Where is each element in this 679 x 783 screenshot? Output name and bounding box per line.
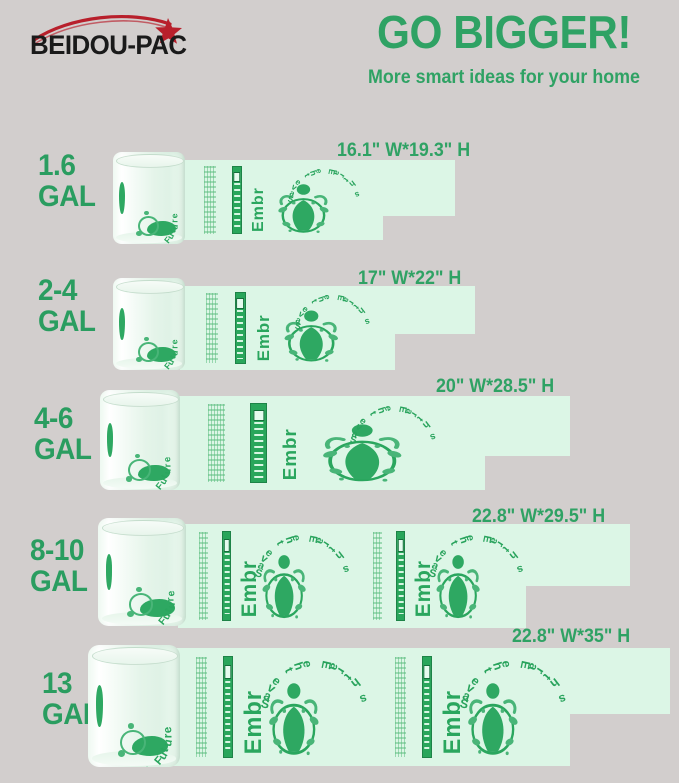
bag-roll: ve the Future	[88, 645, 180, 767]
save-text-glyph: h	[347, 179, 357, 190]
future-text-glyph: r	[162, 464, 173, 468]
capacity-value: 2-4	[38, 274, 77, 307]
print-text-column	[196, 657, 207, 756]
future-text-glyph: e	[154, 241, 163, 244]
brand-logo: BEIDOU-PAC	[30, 10, 250, 62]
dimension-label: 20" W*28.5" H	[436, 376, 554, 398]
save-text-glyph: h	[348, 676, 363, 692]
save-text-glyph: s	[515, 562, 524, 575]
printed-motif: EmbrSave the Earth s	[352, 524, 526, 628]
print-text-column	[395, 657, 406, 756]
print-text-column	[199, 532, 209, 619]
page-subheadline: More smart ideas for your home	[342, 66, 665, 90]
strip-emblem	[398, 539, 405, 551]
strip-emblem	[253, 410, 264, 421]
future-text-glyph: u	[162, 739, 175, 748]
capacity-unit: GAL	[30, 566, 88, 597]
printed-motif: EmbrSave the Earth s	[170, 396, 485, 490]
capacity-label: 1.6GAL	[38, 150, 96, 212]
save-text-glyph: s	[354, 190, 362, 201]
label-strip	[422, 656, 432, 757]
capacity-value: 1.6	[38, 149, 75, 182]
label-strip	[250, 403, 266, 484]
bag-roll: ve the Future	[113, 278, 185, 370]
strip-bars	[234, 183, 240, 230]
save-text-glyph: h	[507, 548, 520, 562]
capacity-label: 4-6GAL	[34, 403, 92, 465]
future-text-glyph: e	[145, 487, 155, 490]
future-text-glyph: r	[169, 220, 179, 223]
strip-bars	[399, 553, 404, 614]
future-text-glyph: e	[154, 367, 163, 370]
save-text-glyph: h	[357, 306, 367, 317]
future-text-glyph: v	[114, 489, 123, 490]
capacity-unit: GAL	[38, 181, 96, 212]
save-text-glyph: e	[499, 660, 514, 669]
printed-motif: EmbrSave the Earth s	[178, 524, 352, 628]
bag-roll: ve the Future	[98, 518, 186, 626]
capacity-value: 13	[42, 667, 72, 700]
infographic-page: BEIDOU-PAC GO BIGGER! More smart ideas f…	[0, 0, 679, 783]
strip-emblem	[224, 539, 231, 551]
for-the-future-text: ve the Future	[100, 390, 180, 490]
for-the-future-text: ve the Future	[98, 518, 186, 626]
save-the-earth-text: Save the Earth s	[510, 654, 570, 760]
bag-roll: ve the Future	[100, 390, 180, 490]
future-text-glyph: r	[169, 346, 179, 349]
print-text-column	[373, 532, 383, 619]
future-text-glyph: u	[166, 601, 178, 609]
print-text-column	[206, 293, 218, 364]
dimension-label: 16.1" W*19.3" H	[337, 140, 470, 162]
future-text-glyph: r	[166, 597, 177, 601]
save-the-earth-text: Save the Earth s	[391, 401, 486, 486]
save-text-glyph: s	[358, 692, 369, 707]
save-text-glyph: s	[364, 317, 372, 328]
save-the-earth-text: Save the Earth s	[300, 529, 352, 623]
bag-roll: ve the Future	[113, 152, 185, 244]
future-text-glyph: v	[104, 766, 114, 767]
capacity-unit: GAL	[38, 306, 96, 337]
save-text-glyph: h	[333, 548, 346, 562]
brand-script-text: Embr	[250, 168, 268, 232]
future-text-glyph: r	[162, 734, 174, 739]
strip-emblem	[233, 172, 240, 182]
save-text-glyph: h	[547, 676, 562, 692]
strip-bars	[424, 681, 430, 751]
future-text-glyph: u	[162, 467, 174, 475]
save-text-glyph: s	[428, 431, 437, 443]
save-text-glyph: s	[557, 692, 568, 707]
save-the-earth-text: Save the Earth s	[311, 654, 371, 760]
save-the-earth-text: Save the Earth s	[322, 164, 383, 236]
save-text-glyph: e	[382, 405, 394, 412]
save-text-glyph: e	[323, 294, 334, 300]
for-the-future-text: ve the Future	[113, 278, 185, 370]
brand-name: BEIDOU-PAC	[30, 30, 186, 61]
brand-script-text: Embr	[279, 405, 301, 480]
page-headline: GO BIGGER!	[346, 6, 662, 58]
future-text-glyph: u	[170, 223, 181, 230]
save-text-glyph: s	[341, 562, 350, 575]
strip-emblem	[423, 665, 430, 679]
save-the-earth-text: Save the Earth s	[331, 290, 396, 366]
label-strip	[235, 292, 246, 364]
label-strip	[232, 166, 243, 235]
printed-motif: EmbrSave the Earth s	[172, 648, 371, 766]
bag-sheet: EmbrSave the Earth s	[170, 396, 570, 490]
capacity-value: 8-10	[30, 534, 84, 567]
capacity-value: 4-6	[34, 402, 73, 435]
strip-bars	[225, 681, 231, 751]
strip-emblem	[236, 298, 244, 308]
future-text-glyph: e	[141, 763, 153, 767]
label-strip	[222, 531, 231, 620]
future-text-glyph: u	[170, 349, 181, 356]
printed-motif: EmbrSave the Earth s	[180, 286, 395, 370]
strip-bars	[225, 553, 230, 614]
save-text-glyph: h	[420, 418, 432, 430]
printed-motif: EmbrSave the Earth s	[180, 160, 383, 240]
for-the-future-text: ve the Future	[113, 152, 185, 244]
future-text-glyph: e	[166, 589, 178, 597]
save-the-earth-text: Save the Earth s	[474, 529, 526, 623]
strip-bars	[254, 422, 263, 477]
save-text-glyph: e	[314, 168, 325, 174]
save-text-glyph: e	[464, 534, 477, 542]
strip-emblem	[224, 665, 231, 679]
capacity-label: 2-4GAL	[38, 275, 96, 337]
label-strip	[396, 531, 405, 620]
printed-motif: EmbrSave the Earth s	[371, 648, 570, 766]
dimension-label: 22.8" W*35" H	[512, 626, 630, 648]
bag-sheet: EmbrSave the Earth sEmbrSave the Earth s	[172, 648, 670, 766]
future-text-glyph: v	[114, 625, 123, 626]
capacity-label: 8-10GAL	[30, 535, 88, 597]
for-the-future-text: ve the Future	[88, 645, 180, 767]
bag-sheet: EmbrSave the Earth s	[180, 286, 475, 370]
capacity-unit: GAL	[34, 434, 92, 465]
bag-sheet: EmbrSave the Earth s	[180, 160, 455, 240]
brand-script-text: Embr	[254, 294, 274, 361]
print-text-column	[208, 404, 225, 483]
label-strip	[223, 656, 233, 757]
save-text-glyph: e	[290, 534, 303, 542]
strip-bars	[237, 310, 243, 359]
future-text-glyph: e	[147, 623, 157, 626]
bag-sheet: EmbrSave the Earth sEmbrSave the Earth s	[178, 524, 630, 628]
save-text-glyph: e	[300, 660, 315, 669]
print-text-column	[204, 166, 215, 233]
